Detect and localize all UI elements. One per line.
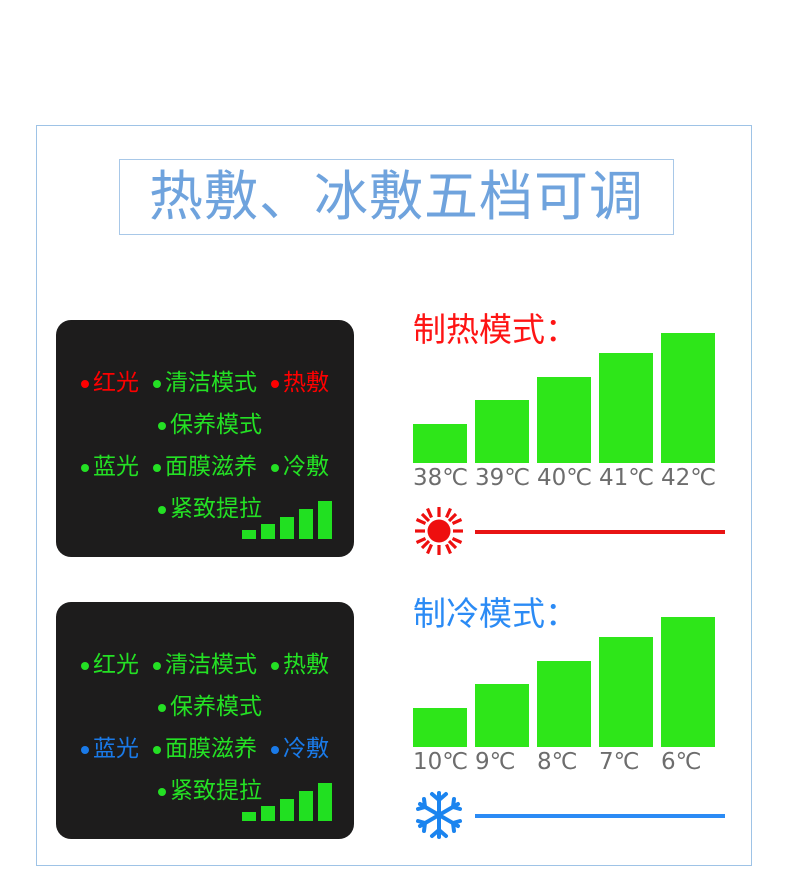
- axis-tick-label: 40℃: [537, 467, 599, 490]
- led-item-clean-mode[interactable]: 清洁模式: [153, 372, 257, 395]
- led-item-red-light[interactable]: 红光: [81, 654, 139, 677]
- axis-tick-label: 38℃: [413, 467, 475, 490]
- axis-tick-label: 7℃: [599, 751, 661, 774]
- snowflake-icon: [413, 789, 465, 841]
- bullet-dot-icon: [271, 746, 279, 754]
- led-label: 面膜滋养: [165, 456, 257, 479]
- led-item-red-light[interactable]: 红光: [81, 372, 139, 395]
- heating-legend-rule: [475, 530, 725, 534]
- led-item-blue-light[interactable]: 蓝光: [81, 456, 139, 479]
- bar-column: [475, 684, 537, 747]
- bar-column: [413, 424, 475, 463]
- signal-strength-icon: [242, 501, 332, 539]
- bar: [475, 400, 529, 463]
- bullet-dot-icon: [153, 662, 161, 670]
- led-label: 冷敷: [283, 456, 329, 479]
- led-label: 红光: [93, 372, 139, 395]
- led-item-clean-mode[interactable]: 清洁模式: [153, 654, 257, 677]
- led-row: 保养模式: [56, 696, 354, 719]
- led-panel-heating[interactable]: 红光 清洁模式 热敷 保养模式 蓝光: [56, 320, 354, 557]
- led-label: 清洁模式: [165, 372, 257, 395]
- axis-tick-label: 10℃: [413, 751, 475, 774]
- bar-column: [661, 333, 723, 463]
- heating-bars: [413, 331, 725, 463]
- led-item-cold-compress[interactable]: 冷敷: [271, 738, 329, 761]
- bar-column: [537, 377, 599, 463]
- led-label: 蓝光: [93, 738, 139, 761]
- bullet-dot-icon: [158, 422, 166, 430]
- led-label: 热敷: [283, 654, 329, 677]
- led-row: 蓝光 面膜滋养 冷敷: [56, 738, 354, 761]
- bullet-dot-icon: [81, 746, 89, 754]
- sun-icon: [413, 505, 465, 557]
- bullet-dot-icon: [153, 380, 161, 388]
- cooling-legend: [413, 789, 725, 841]
- cooling-bars: [413, 615, 725, 747]
- led-row: 保养模式: [56, 414, 354, 437]
- bar: [413, 424, 467, 463]
- bullet-dot-icon: [158, 506, 166, 514]
- bar-column: [599, 637, 661, 747]
- axis-tick-label: 41℃: [599, 467, 661, 490]
- heating-axis-labels: 38℃ 39℃ 40℃ 41℃ 42℃: [413, 467, 725, 490]
- led-item-mask-nourish[interactable]: 面膜滋养: [153, 456, 257, 479]
- bullet-dot-icon: [81, 464, 89, 472]
- led-item-mask-nourish[interactable]: 面膜滋养: [153, 738, 257, 761]
- heating-chart-title: 制热模式：: [413, 313, 578, 346]
- led-label: 保养模式: [170, 696, 262, 719]
- bar-column: [661, 617, 723, 747]
- led-label: 面膜滋养: [165, 738, 257, 761]
- axis-tick-label: 6℃: [661, 751, 723, 774]
- led-item-care-mode[interactable]: 保养模式: [158, 696, 262, 719]
- bar-column: [537, 661, 599, 747]
- bullet-dot-icon: [158, 788, 166, 796]
- bullet-dot-icon: [271, 464, 279, 472]
- page-title: 热敷、冰敷五档可调: [149, 170, 644, 224]
- bar-column: [413, 708, 475, 747]
- signal-strength-icon: [242, 783, 332, 821]
- led-item-blue-light[interactable]: 蓝光: [81, 738, 139, 761]
- axis-tick-label: 9℃: [475, 751, 537, 774]
- axis-tick-label: 8℃: [537, 751, 599, 774]
- cooling-chart-title: 制冷模式：: [413, 597, 578, 630]
- led-item-hot-compress[interactable]: 热敷: [271, 654, 329, 677]
- led-item-care-mode[interactable]: 保养模式: [158, 414, 262, 437]
- cooling-legend-rule: [475, 814, 725, 818]
- bullet-dot-icon: [81, 380, 89, 388]
- bullet-dot-icon: [81, 662, 89, 670]
- heating-legend: [413, 505, 725, 557]
- led-panel-cooling[interactable]: 红光 清洁模式 热敷 保养模式 蓝光: [56, 602, 354, 839]
- led-row: 红光 清洁模式 热敷: [56, 372, 354, 395]
- bullet-dot-icon: [271, 662, 279, 670]
- led-row: 蓝光 面膜滋养 冷敷: [56, 456, 354, 479]
- page-root: 热敷、冰敷五档可调 红光 清洁模式 热敷 保养模式: [0, 0, 790, 891]
- led-item-cold-compress[interactable]: 冷敷: [271, 456, 329, 479]
- bar: [661, 617, 715, 747]
- led-label: 保养模式: [170, 414, 262, 437]
- bar: [661, 333, 715, 463]
- axis-tick-label: 39℃: [475, 467, 537, 490]
- cooling-axis-labels: 10℃ 9℃ 8℃ 7℃ 6℃: [413, 751, 725, 774]
- led-label: 蓝光: [93, 456, 139, 479]
- bullet-dot-icon: [153, 464, 161, 472]
- bullet-dot-icon: [158, 704, 166, 712]
- led-label: 红光: [93, 654, 139, 677]
- led-item-hot-compress[interactable]: 热敷: [271, 372, 329, 395]
- bar: [599, 353, 653, 463]
- bullet-dot-icon: [153, 746, 161, 754]
- bar-column: [475, 400, 537, 463]
- bar: [413, 708, 467, 747]
- led-label: 热敷: [283, 372, 329, 395]
- bar: [599, 637, 653, 747]
- led-row: 红光 清洁模式 热敷: [56, 654, 354, 677]
- led-label: 清洁模式: [165, 654, 257, 677]
- title-box: 热敷、冰敷五档可调: [119, 159, 674, 235]
- led-label: 冷敷: [283, 738, 329, 761]
- bullet-dot-icon: [271, 380, 279, 388]
- bar: [537, 661, 591, 747]
- bar: [537, 377, 591, 463]
- bar-column: [599, 353, 661, 463]
- axis-tick-label: 42℃: [661, 467, 723, 490]
- bar: [475, 684, 529, 747]
